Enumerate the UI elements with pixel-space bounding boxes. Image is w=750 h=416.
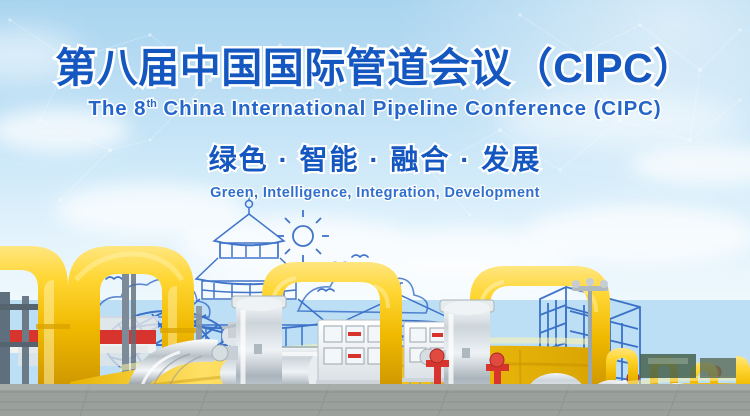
conference-title-cn: 第八届中国国际管道会议（CIPC） [0,44,750,92]
theme-cn-row: 绿色 · 智能 · 融合 · 发展 [0,142,750,177]
title-cn-row: 第八届中国国际管道会议（CIPC） [0,44,750,92]
conference-banner: 第八届中国国际管道会议（CIPC） The 8th China Internat… [0,0,750,416]
title-en-pre: The 8 [88,97,146,120]
conference-theme-en: Green, Intelligence, Integration, Develo… [0,184,750,203]
ordinal-suffix: th [146,98,156,110]
title-en-row: The 8th China International Pipeline Con… [0,96,750,123]
conference-theme-cn: 绿色 · 智能 · 融合 · 发展 [0,142,750,177]
conference-title-en: The 8th China International Pipeline Con… [0,96,750,123]
title-en-post: China International Pipeline Conference … [157,97,662,120]
theme-en-row: Green, Intelligence, Integration, Develo… [0,184,750,203]
pipeline-station-scene [0,196,750,416]
